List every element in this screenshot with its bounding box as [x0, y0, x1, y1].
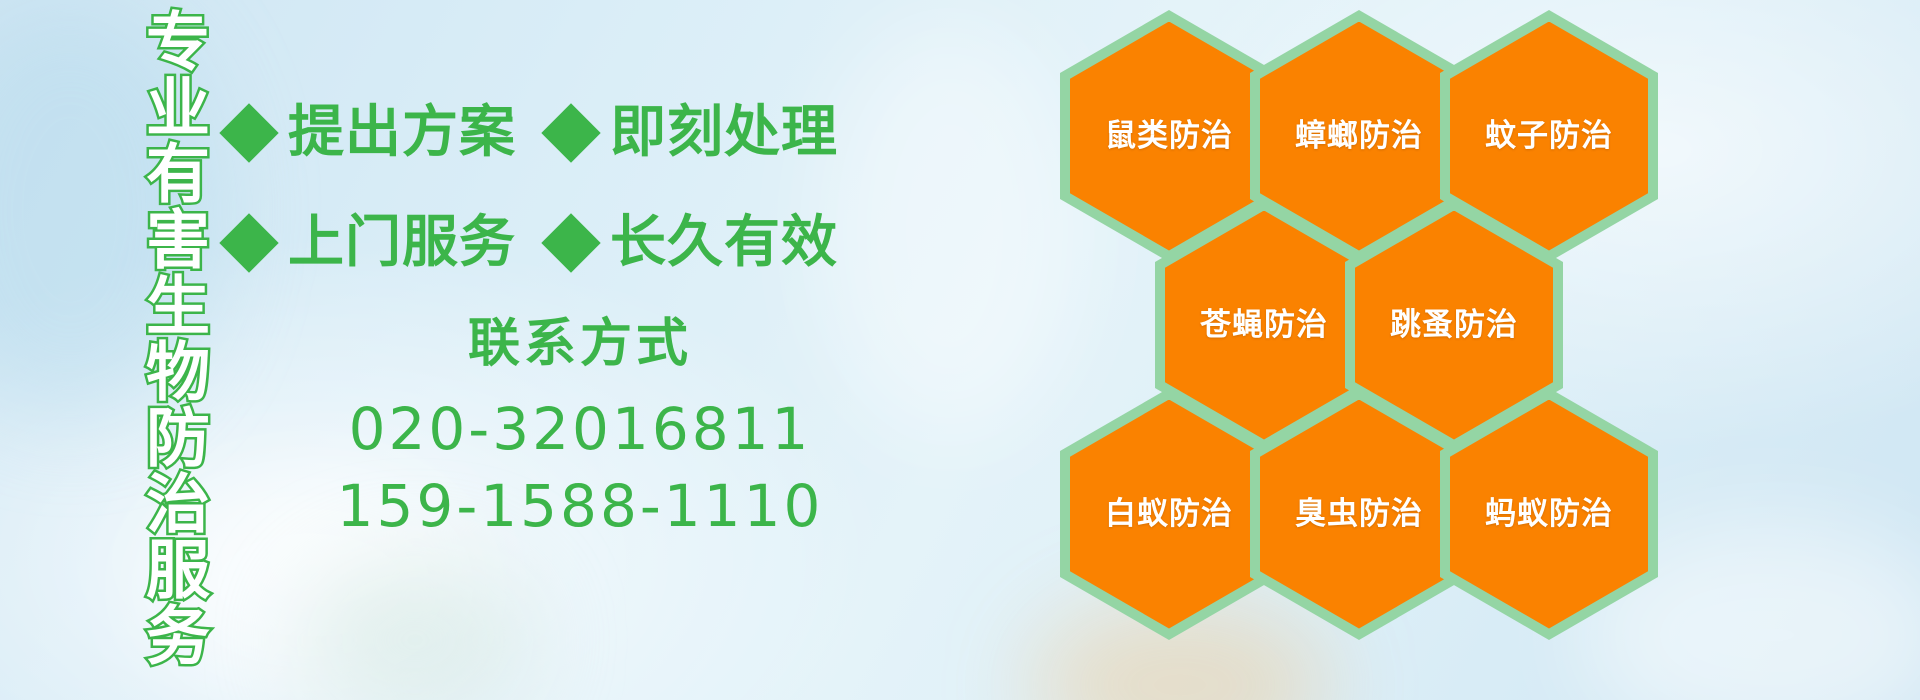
- vertical-headline: 专业有害生物防治服务: [96, 8, 204, 568]
- feature-item-long-lasting: 长久有效: [550, 215, 838, 271]
- hex-inner: 蚂蚁防治: [1450, 400, 1648, 629]
- diamond-icon: [541, 103, 600, 162]
- pest-control-banner: 专业有害生物防治服务 提出方案 即刻处理 上门服务 长久有效 联系方式: [0, 0, 1920, 700]
- diamond-icon: [219, 213, 278, 272]
- phone-landline[interactable]: 020-32016811: [300, 391, 860, 468]
- hex-label: 跳蚤防治: [1390, 310, 1518, 341]
- feature-row: 上门服务 长久有效: [228, 188, 868, 298]
- feature-item-immediate-handling: 即刻处理: [550, 105, 838, 161]
- hex-label: 白蚁防治: [1105, 499, 1233, 530]
- feature-label: 即刻处理: [610, 105, 838, 161]
- hex-label: 蚂蚁防治: [1485, 499, 1613, 530]
- feature-item-propose-plan: 提出方案: [228, 105, 516, 161]
- hex-label: 臭虫防治: [1295, 499, 1423, 530]
- hex-label: 苍蝇防治: [1200, 310, 1328, 341]
- hex-inner: 白蚁防治: [1070, 400, 1268, 629]
- feature-label: 提出方案: [288, 105, 516, 161]
- feature-item-onsite-service: 上门服务: [228, 215, 516, 271]
- service-honeycomb: 鼠类防治 蟑螂防治 蚊子防治 苍蝇防治 跳蚤防治 白蚁防治: [1060, 0, 1780, 700]
- diamond-icon: [219, 103, 278, 162]
- hex-label: 鼠类防治: [1105, 121, 1233, 152]
- phone-mobile[interactable]: 159-1588-1110: [300, 468, 860, 545]
- feature-label: 长久有效: [610, 215, 838, 271]
- feature-list: 提出方案 即刻处理 上门服务 长久有效: [228, 78, 868, 298]
- contact-block: 联系方式 020-32016811 159-1588-1110: [300, 312, 860, 544]
- hex-label: 蚊子防治: [1485, 121, 1613, 152]
- hex-inner: 臭虫防治: [1260, 400, 1458, 629]
- diamond-icon: [541, 213, 600, 272]
- background-blob: [300, 560, 530, 700]
- contact-heading: 联系方式: [300, 312, 860, 377]
- feature-label: 上门服务: [288, 215, 516, 271]
- hex-label: 蟑螂防治: [1295, 121, 1423, 152]
- feature-row: 提出方案 即刻处理: [228, 78, 868, 188]
